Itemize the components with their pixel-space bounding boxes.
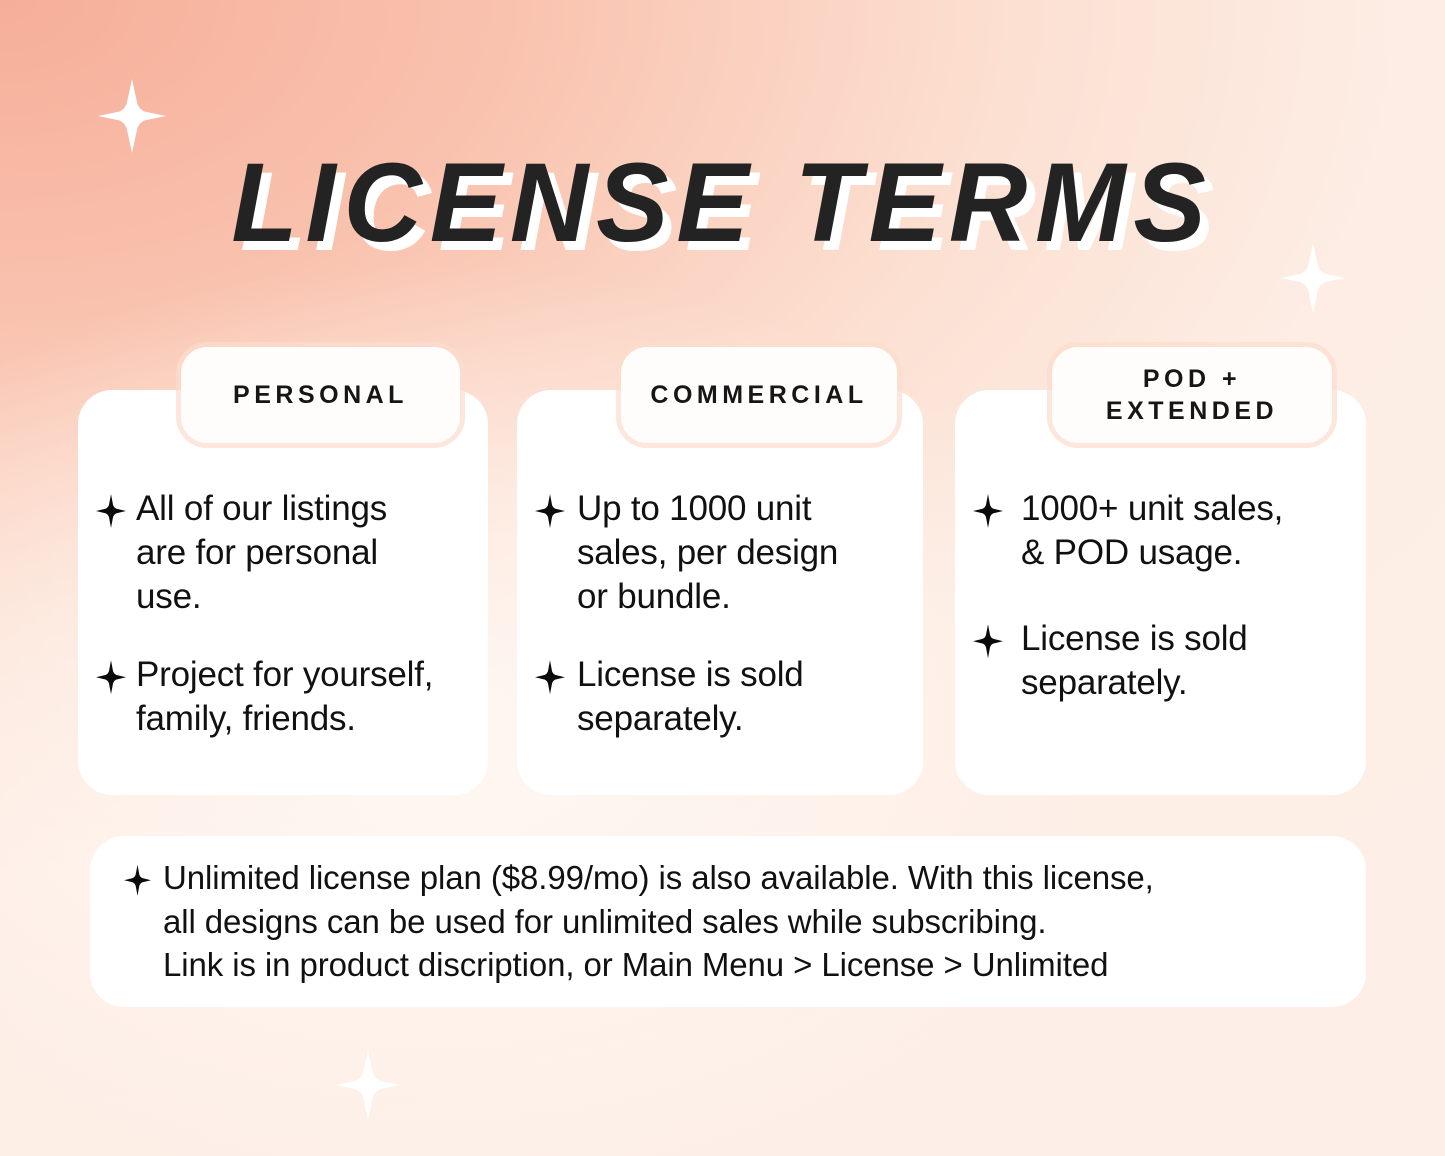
- four-point-star-bullet-icon: [96, 494, 126, 528]
- license-card-personal: PERSONAL All of our listings are for per…: [78, 347, 488, 797]
- card-badge-personal: PERSONAL: [181, 347, 460, 443]
- four-point-star-bullet-icon: [124, 865, 151, 896]
- badge-label: POD + EXTENDED: [1106, 363, 1278, 427]
- bullet-text: License is sold separately.: [1021, 617, 1248, 705]
- card-badge-commercial: COMMERCIAL: [621, 347, 897, 443]
- four-point-star-bullet-icon: [96, 660, 126, 694]
- four-point-star-bullet-icon: [973, 494, 1003, 528]
- license-terms-poster: LICENSE TERMS PERSONAL All of our listin…: [0, 0, 1445, 1156]
- card-content: 1000+ unit sales, & POD usage. License i…: [955, 487, 1366, 747]
- list-item: Up to 1000 unit sales, per design or bun…: [535, 487, 907, 619]
- list-item: License is sold separately.: [973, 617, 1350, 705]
- list-item: License is sold separately.: [535, 653, 907, 741]
- bullet-text: License is sold separately.: [577, 653, 804, 741]
- footer-note-text: Unlimited license plan ($8.99/mo) is als…: [163, 856, 1154, 988]
- card-badge-pod-extended: POD + EXTENDED: [1052, 347, 1332, 443]
- list-item: Unlimited license plan ($8.99/mo) is als…: [124, 856, 1154, 988]
- bullet-text: Project for yourself, family, friends.: [136, 653, 433, 741]
- license-card-commercial: COMMERCIAL Up to 1000 unit sales, per de…: [517, 347, 923, 797]
- license-card-pod-extended: POD + EXTENDED 1000+ unit sales, & POD u…: [955, 347, 1366, 797]
- unlimited-plan-banner: Unlimited license plan ($8.99/mo) is als…: [90, 836, 1366, 1007]
- badge-label: PERSONAL: [233, 379, 408, 411]
- four-point-star-bullet-icon: [535, 494, 565, 528]
- list-item: All of our listings are for personal use…: [96, 487, 472, 619]
- badge-label: COMMERCIAL: [650, 379, 867, 411]
- card-content: Up to 1000 unit sales, per design or bun…: [517, 487, 923, 741]
- bullet-text: Up to 1000 unit sales, per design or bun…: [577, 487, 838, 619]
- page-title: LICENSE TERMS: [22, 147, 1424, 259]
- four-point-star-icon: [98, 79, 166, 153]
- license-tier-cards: PERSONAL All of our listings are for per…: [78, 347, 1366, 797]
- card-content: All of our listings are for personal use…: [78, 487, 488, 741]
- four-point-star-bullet-icon: [535, 660, 565, 694]
- four-point-star-bullet-icon: [973, 624, 1003, 658]
- list-item: 1000+ unit sales, & POD usage.: [973, 487, 1350, 575]
- bullet-text: 1000+ unit sales, & POD usage.: [1021, 487, 1283, 575]
- list-item: Project for yourself, family, friends.: [96, 653, 472, 741]
- four-point-star-icon: [336, 1050, 400, 1120]
- bullet-text: All of our listings are for personal use…: [136, 487, 387, 619]
